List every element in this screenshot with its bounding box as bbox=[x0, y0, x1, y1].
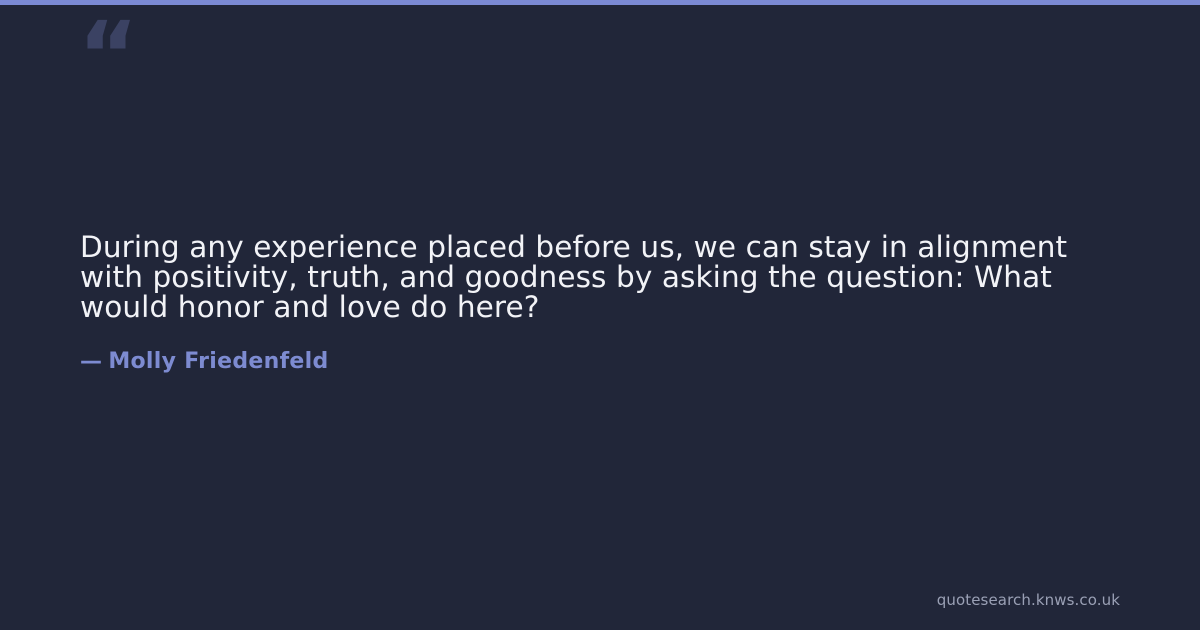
quote-card: “ During any experience placed before us… bbox=[0, 0, 1200, 630]
attribution-author: Molly Friedenfeld bbox=[108, 349, 328, 374]
quote-body: During any experience placed before us, … bbox=[80, 232, 1128, 322]
quote-open-icon: “ bbox=[78, 10, 136, 102]
attribution-dash: — bbox=[80, 348, 102, 376]
site-watermark: quotesearch.knws.co.uk bbox=[937, 591, 1120, 610]
top-accent-bar bbox=[0, 0, 1200, 5]
attribution: —Molly Friedenfeld bbox=[80, 348, 329, 376]
quote-text: During any experience placed before us, … bbox=[80, 232, 1128, 322]
